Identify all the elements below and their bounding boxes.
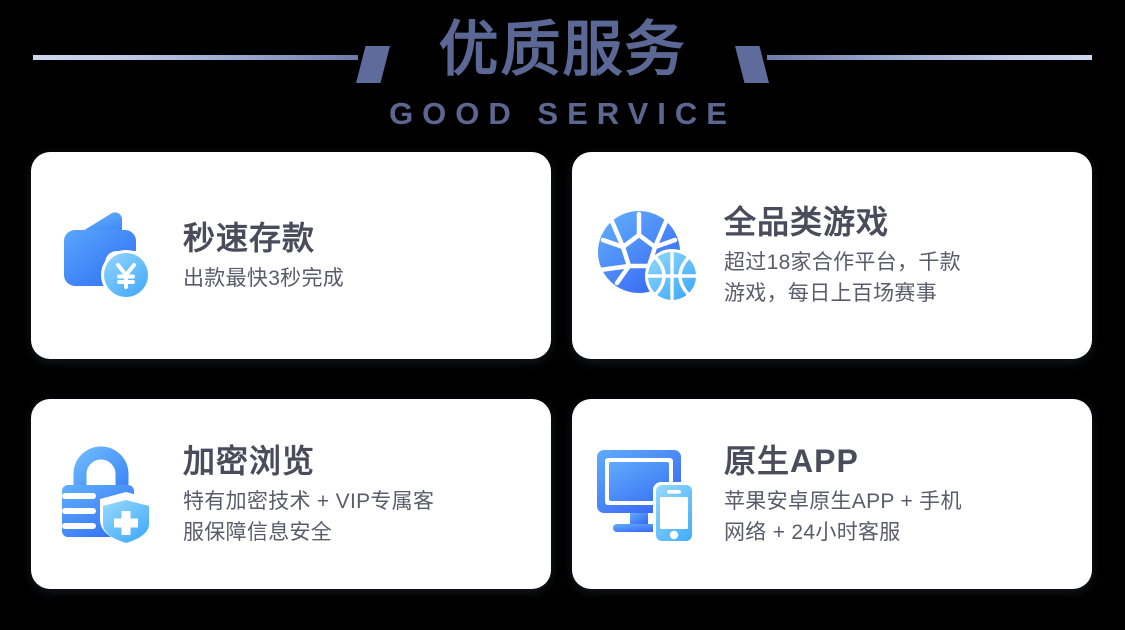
soccer-basketball-icon	[572, 152, 724, 359]
feature-text-block: 全品类游戏 超过18家合作平台，千款游戏，每日上百场赛事	[724, 202, 1092, 309]
feature-title: 加密浏览	[183, 441, 533, 481]
page-title: 优质服务	[0, 8, 1125, 92]
lock-shield-icon	[31, 399, 183, 589]
feature-title: 全品类游戏	[724, 202, 1074, 242]
banner-header: 优质服务 GOOD SERVICE	[0, 0, 1125, 145]
feature-subtitle: 出款最快3秒完成	[183, 263, 533, 294]
feature-card-deposit[interactable]: 秒速存款 出款最快3秒完成	[31, 152, 551, 359]
feature-text-block: 秒速存款 出款最快3秒完成	[183, 218, 551, 294]
feature-subtitle: 苹果安卓原生APP + 手机网络 + 24小时客服	[724, 486, 1074, 548]
feature-subtitle: 超过18家合作平台，千款游戏，每日上百场赛事	[724, 247, 1074, 309]
feature-subtitle: 特有加密技术 + VIP专属客服保障信息安全	[183, 486, 533, 548]
feature-card-native-app[interactable]: 原生APP 苹果安卓原生APP + 手机网络 + 24小时客服	[572, 399, 1092, 589]
feature-card-grid: 秒速存款 出款最快3秒完成	[31, 152, 1094, 589]
feature-title: 秒速存款	[183, 218, 533, 258]
feature-card-encryption[interactable]: 加密浏览 特有加密技术 + VIP专属客服保障信息安全	[31, 399, 551, 589]
service-feature-banner: 优质服务 GOOD SERVICE	[0, 0, 1125, 630]
feature-text-block: 加密浏览 特有加密技术 + VIP专属客服保障信息安全	[183, 441, 551, 548]
wallet-yen-icon	[31, 152, 183, 359]
page-subtitle: GOOD SERVICE	[0, 96, 1125, 132]
monitor-phone-icon	[572, 399, 724, 589]
feature-text-block: 原生APP 苹果安卓原生APP + 手机网络 + 24小时客服	[724, 441, 1092, 548]
feature-card-games[interactable]: 全品类游戏 超过18家合作平台，千款游戏，每日上百场赛事	[572, 152, 1092, 359]
feature-title: 原生APP	[724, 441, 1074, 481]
